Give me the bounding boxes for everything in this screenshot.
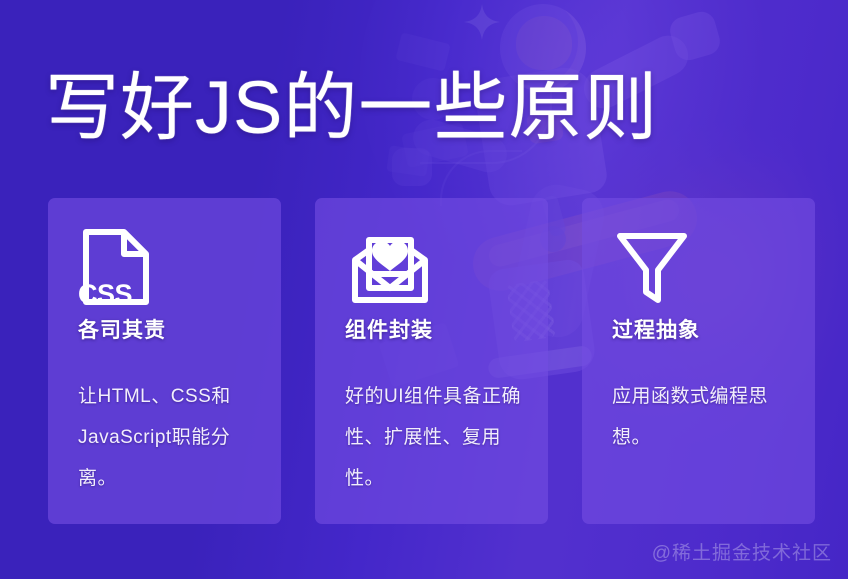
css-file-icon: CSS	[78, 226, 263, 308]
card-body-text: 让HTML、CSS和JavaScript职能分离。	[78, 376, 256, 499]
card-title: 组件封装	[345, 314, 530, 344]
page-title: 写好JS的一些原则	[45, 62, 658, 154]
card-body-text: 应用函数式编程思想。	[612, 376, 790, 458]
card-title: 各司其责	[78, 314, 263, 344]
envelope-heart-icon	[345, 226, 530, 308]
card-body-text: 好的UI组件具备正确性、扩展性、复用性。	[345, 376, 523, 499]
card-title: 过程抽象	[612, 314, 797, 344]
slide-canvas: 写好JS的一些原则 CSS 各司其责 让HTML、CSS和JavaScript职…	[0, 0, 848, 579]
card-content: CSS 各司其责 让HTML、CSS和JavaScript职能分离。	[78, 226, 263, 499]
principle-card-list: CSS 各司其责 让HTML、CSS和JavaScript职能分离。	[48, 198, 815, 524]
principle-card-separation-of-concerns[interactable]: CSS 各司其责 让HTML、CSS和JavaScript职能分离。	[48, 198, 281, 524]
card-content: 组件封装 好的UI组件具备正确性、扩展性、复用性。	[345, 226, 530, 499]
funnel-icon	[612, 226, 797, 308]
principle-card-process-abstraction[interactable]: 过程抽象 应用函数式编程思想。	[582, 198, 815, 524]
watermark-label: @稀土掘金技术社区	[652, 538, 832, 565]
css-icon-label: CSS	[78, 279, 135, 310]
principle-card-component-encapsulation[interactable]: 组件封装 好的UI组件具备正确性、扩展性、复用性。	[315, 198, 548, 524]
card-content: 过程抽象 应用函数式编程思想。	[612, 226, 797, 458]
